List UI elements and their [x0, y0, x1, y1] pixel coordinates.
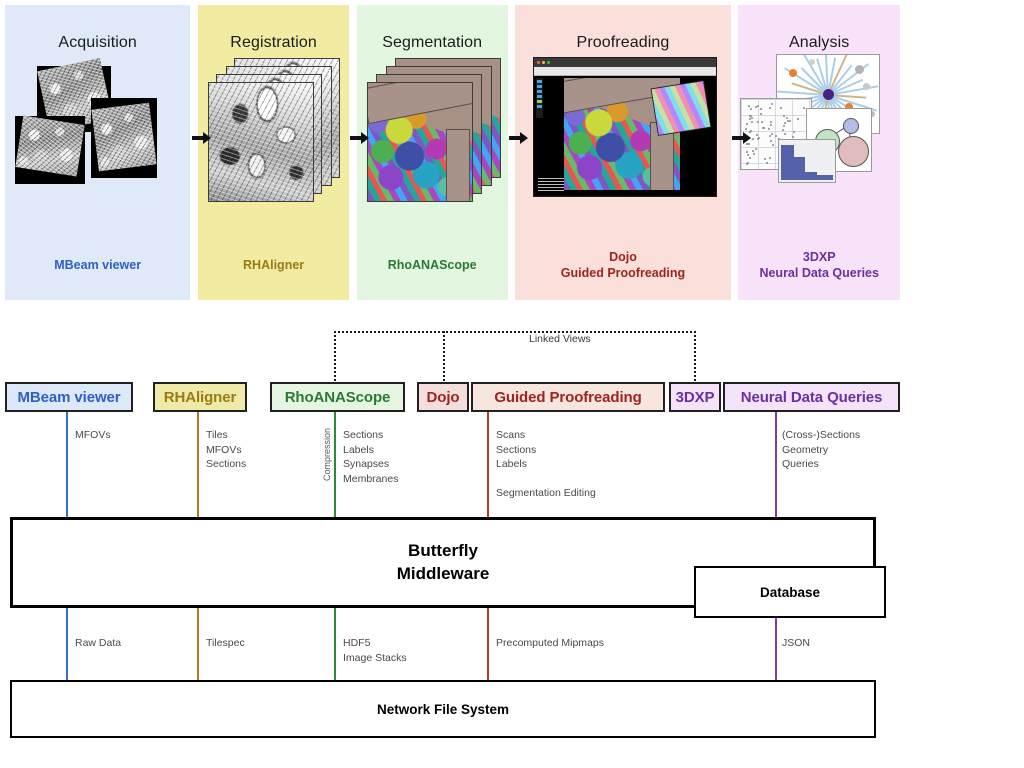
- stage-title: Proofreading: [577, 34, 670, 52]
- scatter-point: [757, 121, 759, 123]
- scatter-point: [771, 133, 773, 135]
- scatter-point: [747, 154, 749, 156]
- connector-line-guided: [487, 412, 489, 517]
- arrow-right-icon: [509, 131, 529, 145]
- scatter-point: [757, 105, 759, 107]
- pipeline-stage-proofreading: Proofreading: [515, 5, 730, 300]
- tool-name-rhaligner: RHAligner: [243, 258, 304, 274]
- arrow-right-icon: [350, 131, 370, 145]
- stage-tool-label: 3DXPNeural Data Queries: [738, 232, 900, 300]
- scatter-point: [771, 103, 773, 105]
- browser-mock: [533, 57, 717, 197]
- arch-box-mbeam-viewer[interactable]: MBeam viewer: [5, 382, 133, 412]
- scatter-point: [756, 134, 758, 136]
- butterfly-middleware-label: ButterflyMiddleware: [397, 540, 490, 586]
- pipeline-stage-acquisition: Acquisition MBeam viewer: [5, 5, 190, 300]
- arch-box-rhoanascope[interactable]: RhoANAScope: [270, 382, 405, 412]
- pipeline-stage-segmentation: Segmentation RhoANAScope: [357, 5, 508, 300]
- connector-line-rhoanascope-lower: [334, 608, 336, 680]
- scatter-point: [803, 107, 805, 109]
- stage-body: Segmentation: [357, 5, 508, 232]
- stage-title: Acquisition: [58, 34, 136, 52]
- arch-box-neural-data-queries[interactable]: Neural Data Queries: [723, 382, 900, 412]
- registration-illustration: [198, 52, 349, 232]
- annotation-json: JSON: [782, 636, 810, 651]
- scatter-point: [769, 135, 771, 137]
- annotation-rhaligner: Tiles MFOVs Sections: [206, 428, 246, 472]
- annotation-rhoanascope: Sections Labels Synapses Membranes: [343, 428, 398, 486]
- connector-line-rhaligner: [197, 412, 199, 517]
- tool-name-dojo-guided-proofreading: DojoGuided Proofreading: [561, 250, 685, 281]
- arch-box-guided-proofreading[interactable]: Guided Proofreading: [471, 382, 665, 412]
- connector-line-mbeam: [66, 412, 68, 517]
- scatter-point: [764, 158, 766, 160]
- scatter-point: [755, 148, 757, 150]
- scatter-point: [783, 115, 785, 117]
- analysis-illustration: [738, 52, 900, 232]
- scatter-point: [763, 127, 765, 129]
- annotation-tilespec: Tilespec: [206, 636, 245, 651]
- stage-body: Acquisition: [5, 5, 190, 232]
- database-box[interactable]: Database: [694, 566, 886, 618]
- stage-title: Analysis: [789, 34, 849, 52]
- arrow-right-icon: [732, 131, 752, 145]
- connector-line-guided-lower: [487, 608, 489, 680]
- scatter-point: [772, 144, 774, 146]
- architecture-diagram: Linked Views MBeam viewer RHAligner RhoA…: [0, 300, 1024, 768]
- scatter-point: [768, 128, 770, 130]
- arch-box-3dxp[interactable]: 3DXP: [669, 382, 721, 412]
- arch-box-label: 3DXP: [676, 389, 715, 406]
- scatter-point: [751, 117, 753, 119]
- annotation-guided: Scans Sections Labels Segmentation Editi…: [496, 428, 596, 501]
- arch-box-label: MBeam viewer: [17, 389, 120, 406]
- scatter-point: [748, 105, 750, 107]
- annotation-mipmaps: Precomputed Mipmaps: [496, 636, 604, 651]
- scatter-point: [789, 120, 791, 122]
- diagram-canvas: Acquisition MBeam viewer: [0, 0, 1024, 768]
- tool-name-rhoanascope: RhoANAScope: [388, 258, 477, 274]
- stage-body: Proofreading: [515, 5, 730, 232]
- stage-title: Registration: [230, 34, 317, 52]
- scatter-point: [783, 125, 785, 127]
- annotation-raw-data: Raw Data: [75, 636, 121, 651]
- tool-name-3dxp-neural-data-queries: 3DXPNeural Data Queries: [759, 250, 879, 281]
- connector-line-ndq: [775, 412, 777, 517]
- annotation-ndq: (Cross-)Sections Geometry Queries: [782, 428, 860, 472]
- arch-box-label: Neural Data Queries: [741, 389, 883, 406]
- connector-line-mbeam-lower: [66, 608, 68, 680]
- scatter-point: [751, 121, 753, 123]
- arch-box-rhaligner[interactable]: RHAligner: [153, 382, 247, 412]
- tool-name-mbeam-viewer: MBeam viewer: [54, 258, 141, 274]
- linked-views-label: Linked Views: [529, 333, 591, 345]
- network-file-system-box[interactable]: Network File System: [10, 680, 876, 738]
- scatter-point: [797, 118, 799, 120]
- arch-box-dojo[interactable]: Dojo: [417, 382, 469, 412]
- stage-tool-label: DojoGuided Proofreading: [515, 232, 730, 300]
- pipeline-overview: Acquisition MBeam viewer: [5, 5, 900, 300]
- segmentation-illustration: [357, 52, 508, 232]
- scatter-point: [775, 135, 777, 137]
- database-label: Database: [760, 585, 820, 600]
- stage-title: Segmentation: [382, 34, 482, 52]
- stage-tool-label: MBeam viewer: [5, 232, 190, 300]
- pipeline-stage-registration: Registration RHAligner: [198, 5, 349, 300]
- connector-line-ndq-lower: [775, 608, 777, 680]
- arch-box-label: Dojo: [427, 389, 460, 406]
- annotation-mbeam: MFOVs: [75, 428, 111, 443]
- annotation-hdf5: HDF5 Image Stacks: [343, 636, 407, 665]
- scatter-point: [793, 131, 795, 133]
- pipeline-stage-analysis: Analysis: [738, 5, 900, 300]
- stage-body: Analysis: [738, 5, 900, 232]
- stage-body: Registration: [198, 5, 349, 232]
- histogram-card: [778, 139, 836, 183]
- scatter-point: [755, 106, 757, 108]
- connector-line-rhoanascope: [334, 412, 336, 517]
- arrow-right-icon: [192, 131, 212, 145]
- acquisition-illustration: [5, 52, 190, 232]
- arch-box-label: RHAligner: [164, 389, 236, 406]
- stage-tool-label: RhoANAScope: [357, 232, 508, 300]
- arch-box-label: RhoANAScope: [285, 389, 391, 406]
- scatter-point: [749, 118, 751, 120]
- scatter-point: [770, 121, 772, 123]
- proofreading-illustration: [515, 52, 730, 232]
- connector-line-rhaligner-lower: [197, 608, 199, 680]
- stage-tool-label: RHAligner: [198, 232, 349, 300]
- scatter-point: [761, 121, 763, 123]
- scatter-point: [752, 150, 754, 152]
- compression-label: Compression: [322, 428, 332, 481]
- arch-box-label: Guided Proofreading: [494, 389, 641, 406]
- network-file-system-label: Network File System: [377, 702, 509, 717]
